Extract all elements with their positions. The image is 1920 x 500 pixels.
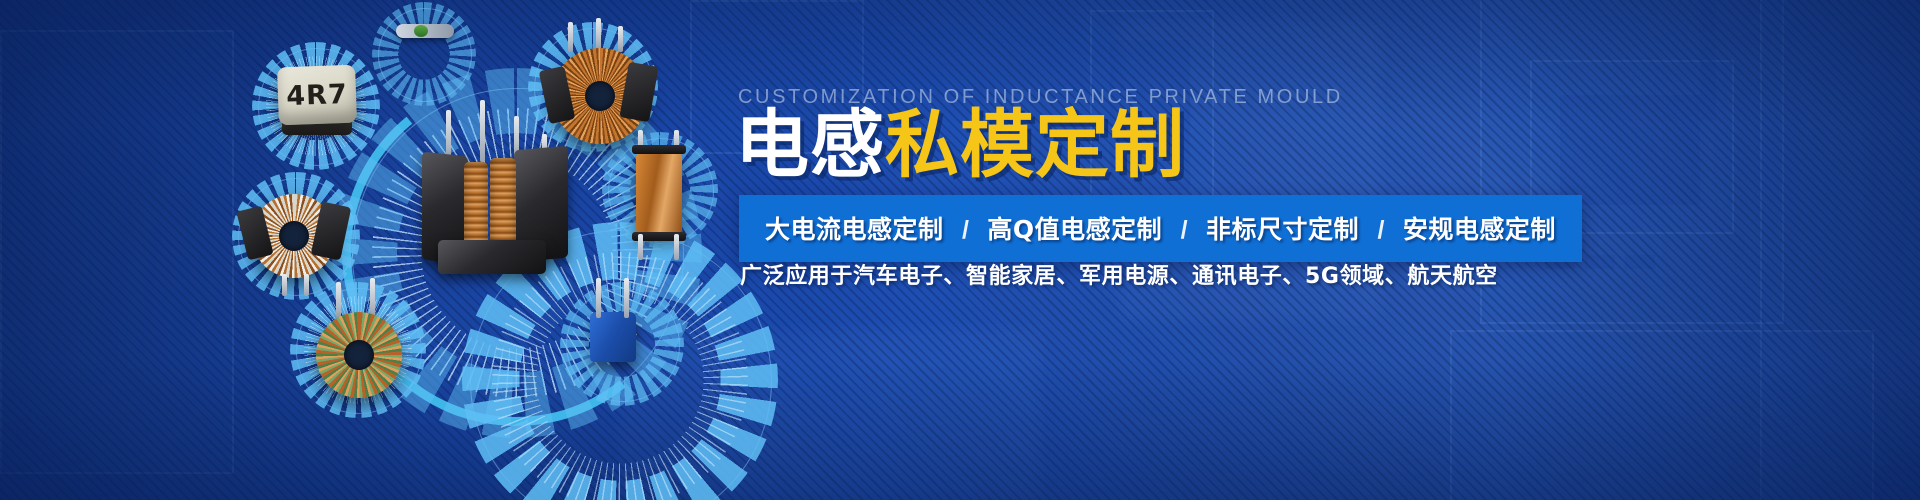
- application-subline: 广泛应用于汽车电子、智能家居、军用电源、通讯电子、5G领域、航天航空: [740, 258, 1498, 290]
- feature-separator-1: /: [948, 216, 983, 244]
- product-blue-inductor: [590, 312, 636, 362]
- green-toroid-winding: [316, 312, 402, 398]
- feature-separator-3: /: [1363, 216, 1398, 244]
- feature-item-1[interactable]: 大电流电感定制: [765, 215, 944, 244]
- product-rod-inductor: [636, 150, 682, 236]
- feature-bar: 大电流电感定制 / 高Q值电感定制 / 非标尺寸定制 / 安规电感定制: [739, 195, 1582, 262]
- product-green-toroid: [316, 312, 402, 398]
- feature-item-3[interactable]: 非标尺寸定制: [1206, 215, 1359, 244]
- product-showcase: 4R7: [0, 0, 760, 500]
- product-thin-wire-toroid: [396, 24, 454, 38]
- blue-inductor-body: [590, 312, 636, 362]
- product-flatwire-choke: [252, 194, 336, 278]
- feature-item-2[interactable]: 高Q值电感定制: [987, 215, 1162, 244]
- page-title: 电感私模定制: [735, 108, 1185, 182]
- feature-separator-2: /: [1167, 216, 1202, 244]
- headline-accent: 私模定制: [885, 102, 1185, 188]
- hud-segments-wire: [372, 2, 476, 106]
- smd-marking: 4R7: [286, 78, 348, 111]
- product-smd-inductor: 4R7: [278, 66, 356, 124]
- feature-item-4[interactable]: 安规电感定制: [1403, 215, 1556, 244]
- smd-body: 4R7: [277, 65, 357, 126]
- banner-copy: CUSTOMIZATION OF INDUCTANCE PRIVATE MOUL…: [735, 0, 1865, 500]
- rod-winding: [636, 150, 682, 236]
- headline-primary: 电感: [735, 102, 885, 188]
- product-banner: 4R7: [0, 0, 1920, 500]
- product-large-filter-assembly: [418, 112, 578, 262]
